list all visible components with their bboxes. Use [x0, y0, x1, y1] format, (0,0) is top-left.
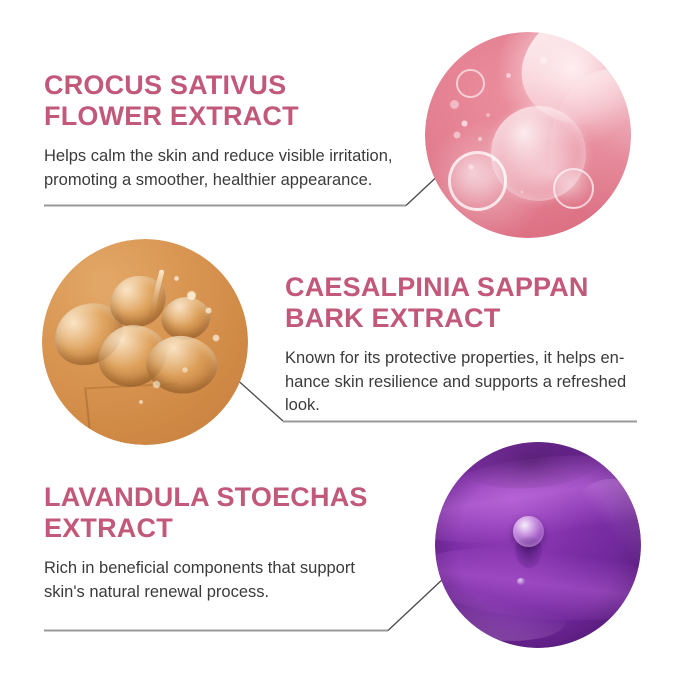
connector-line-2-diagonal — [233, 376, 283, 421]
ingredient-description-crocus-sativus: Helps calm the skin and reduce visible i… — [44, 145, 424, 193]
purple-swatch-vignette — [435, 442, 641, 648]
ingredient-description-caesalpinia-sappan: Known for its protective properties, it … — [285, 347, 655, 419]
amber-honey-swatch — [42, 239, 248, 445]
pink-swatch-bubble-ring-c — [456, 69, 485, 98]
ingredient-title-caesalpinia-sappan: CAESALPINIA SAPPAN BARK EXTRACT — [285, 272, 655, 335]
ingredient-title-lavandula-stoechas: LAVANDULA STOECHAS EXTRACT — [44, 482, 424, 545]
ingredient-title-crocus-sativus: CROCUS SATIVUS FLOWER EXTRACT — [44, 70, 424, 133]
ingredient-block-lavandula-stoechas: LAVANDULA STOECHAS EXTRACT Rich in benef… — [44, 482, 424, 604]
pink-swatch-bubble-ring-b — [553, 168, 594, 209]
ingredient-block-crocus-sativus: CROCUS SATIVUS FLOWER EXTRACT Helps calm… — [44, 70, 424, 192]
amber-swatch-droplets-texture — [42, 239, 248, 445]
purple-droplet-swatch — [435, 442, 641, 648]
pink-swatch-bubble-ring-a — [448, 151, 508, 211]
ingredient-block-caesalpinia-sappan: CAESALPINIA SAPPAN BARK EXTRACT Known fo… — [285, 272, 655, 418]
ingredient-description-lavandula-stoechas: Rich in beneficial components that suppo… — [44, 557, 424, 605]
pink-bubbles-swatch — [425, 32, 631, 238]
ingredient-infographic: CROCUS SATIVUS FLOWER EXTRACT Helps calm… — [0, 0, 679, 679]
